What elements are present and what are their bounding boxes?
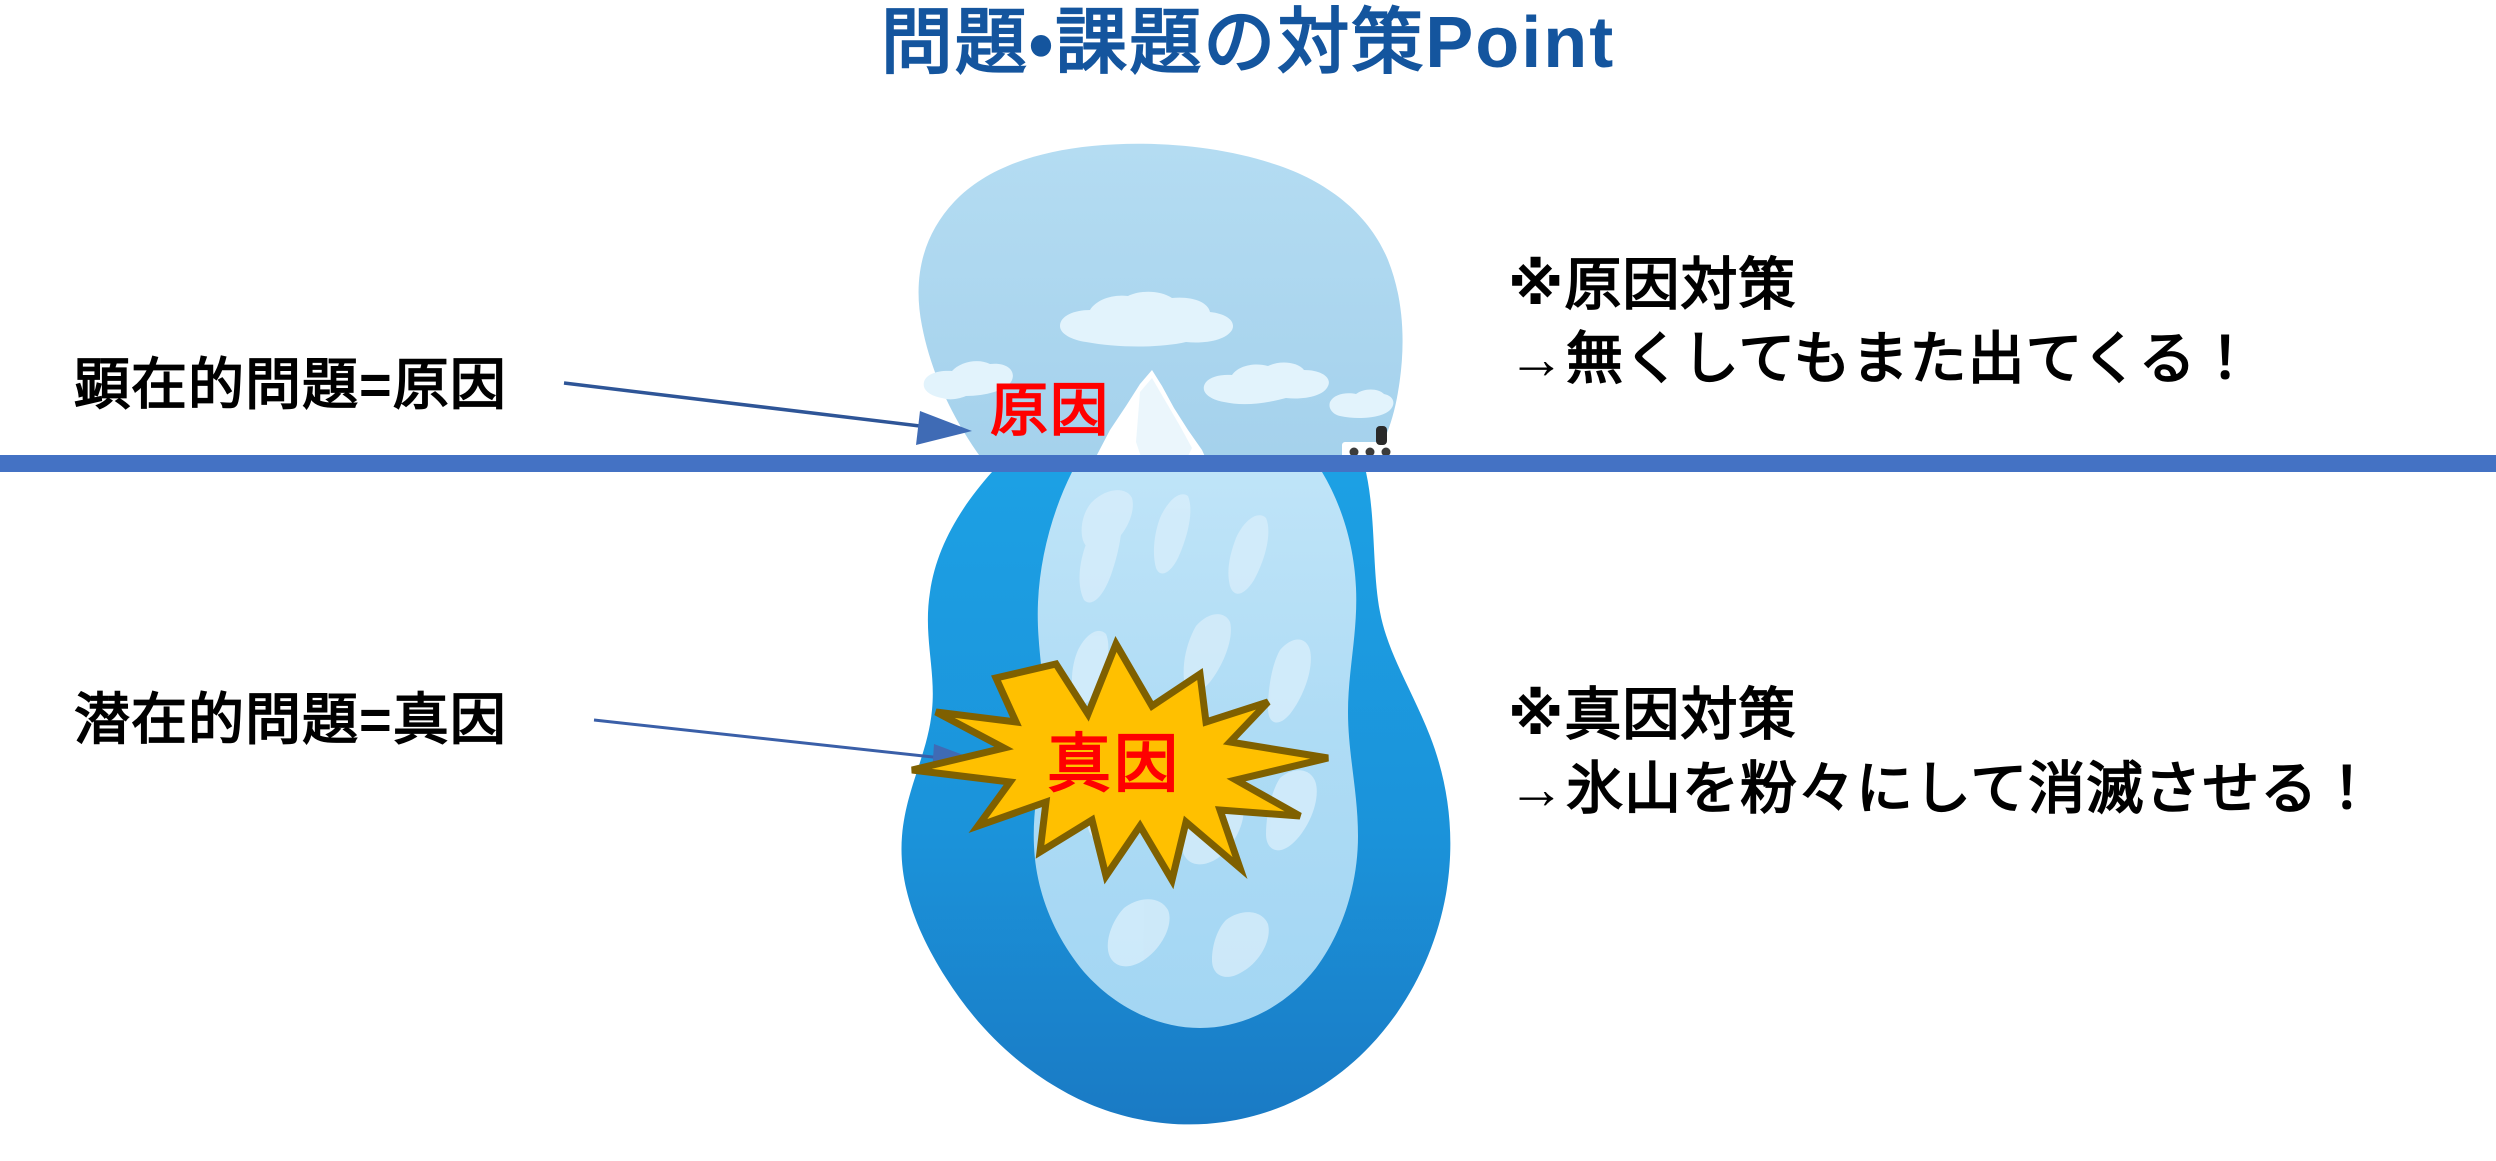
callout-cause-label: 原因 bbox=[990, 382, 1110, 440]
slide-canvas: 問題・課題の対策Point bbox=[0, 0, 2496, 1161]
callout-root-cause-starburst: 真因 bbox=[900, 630, 1340, 900]
label-visible-problem: 顕在的問題=原因 bbox=[74, 340, 507, 421]
waterline-divider bbox=[0, 455, 2496, 472]
page-title: 問題・課題の対策Point bbox=[0, 6, 2496, 82]
note-root-cause-countermeasure: ※真因対策 →氷山を粉々にして消滅させる！ bbox=[1508, 678, 2376, 826]
note-root-heading: ※真因対策 bbox=[1508, 678, 2376, 752]
note-root-detail: →氷山を粉々にして消滅させる！ bbox=[1508, 752, 2376, 826]
note-cause-heading: ※原因対策 bbox=[1508, 248, 2255, 322]
note-cause-detail: →無くしてもまた出てくる！ bbox=[1508, 322, 2255, 396]
note-cause-countermeasure: ※原因対策 →無くしてもまた出てくる！ bbox=[1508, 248, 2255, 396]
callout-root-cause-label: 真因 bbox=[894, 624, 1334, 894]
label-hidden-problem: 潜在的問題=真因 bbox=[74, 675, 507, 756]
